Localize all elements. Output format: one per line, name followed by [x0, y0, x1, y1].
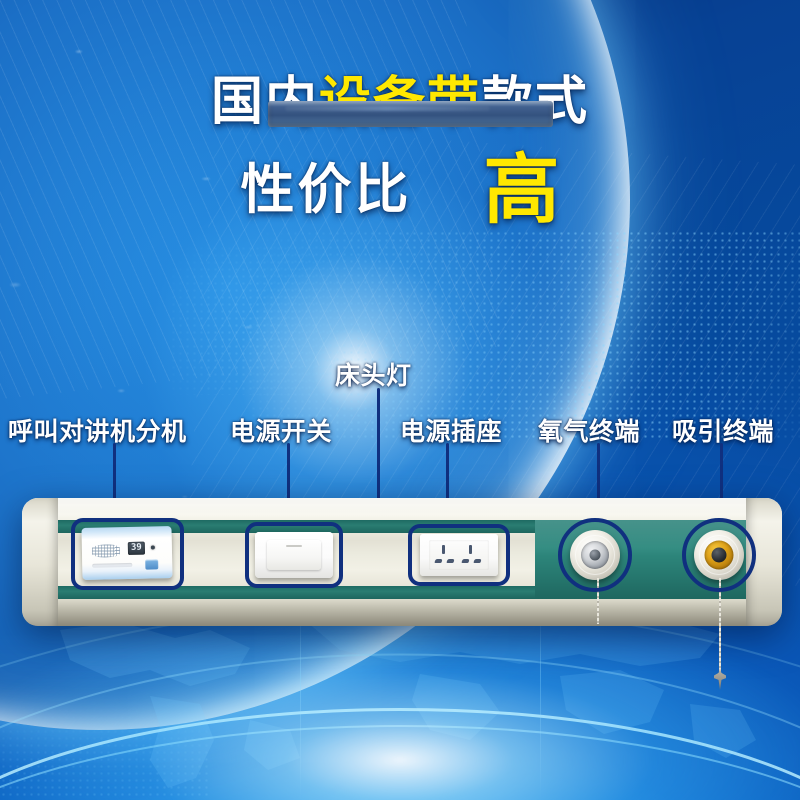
panel-top-highlight: [22, 498, 782, 518]
product-banner-image: 国内设备带款式 性价比高 呼叫对讲机分机 电源开关 床头灯 电源插座 氧气终端 …: [0, 0, 800, 800]
panel-end-cap-left: [22, 498, 58, 626]
callout-label-intercom: 呼叫对讲机分机: [8, 412, 187, 448]
oxygen-pull-cord: [597, 578, 599, 624]
socket-pin-icon: [442, 545, 445, 554]
intercom-display: 39: [128, 542, 145, 555]
oxygen-terminal-core: [590, 550, 601, 561]
power-switch-unit[interactable]: [255, 532, 333, 578]
nurse-call-intercom-unit[interactable]: 39: [81, 526, 172, 580]
rocker-switch-icon[interactable]: [267, 540, 321, 570]
callout-label-power-switch: 电源开关: [230, 412, 332, 448]
speaker-grille-icon: [92, 544, 120, 558]
led-indicator-icon: [151, 545, 155, 549]
socket-faceplate: [429, 540, 489, 570]
socket-pin-icon: [473, 559, 481, 563]
bedside-lamp-bar[interactable]: [268, 101, 553, 127]
callout-label-oxygen-outlet: 氧气终端: [538, 412, 640, 448]
callout-label-power-socket: 电源插座: [400, 412, 502, 448]
suction-terminal-core: [712, 548, 727, 563]
callout-label-bedside-lamp: 床头灯: [335, 356, 412, 392]
socket-pin-icon: [469, 545, 472, 554]
socket-pin-icon: [446, 559, 454, 563]
suction-pull-cord[interactable]: [719, 578, 721, 672]
oxygen-terminal-outlet[interactable]: [570, 530, 620, 580]
socket-pin-icon: [434, 559, 442, 563]
intercom-slot: [92, 563, 132, 568]
panel-bottom-shadow: [22, 600, 782, 626]
call-button-icon[interactable]: [145, 559, 158, 569]
power-socket-unit[interactable]: [420, 534, 498, 576]
switch-marking: [286, 545, 302, 547]
socket-pin-icon: [461, 559, 469, 563]
callout-label-suction-outlet: 吸引终端: [672, 412, 774, 448]
suction-terminal-outlet[interactable]: [694, 530, 744, 580]
panel-end-cap-right: [746, 498, 782, 626]
